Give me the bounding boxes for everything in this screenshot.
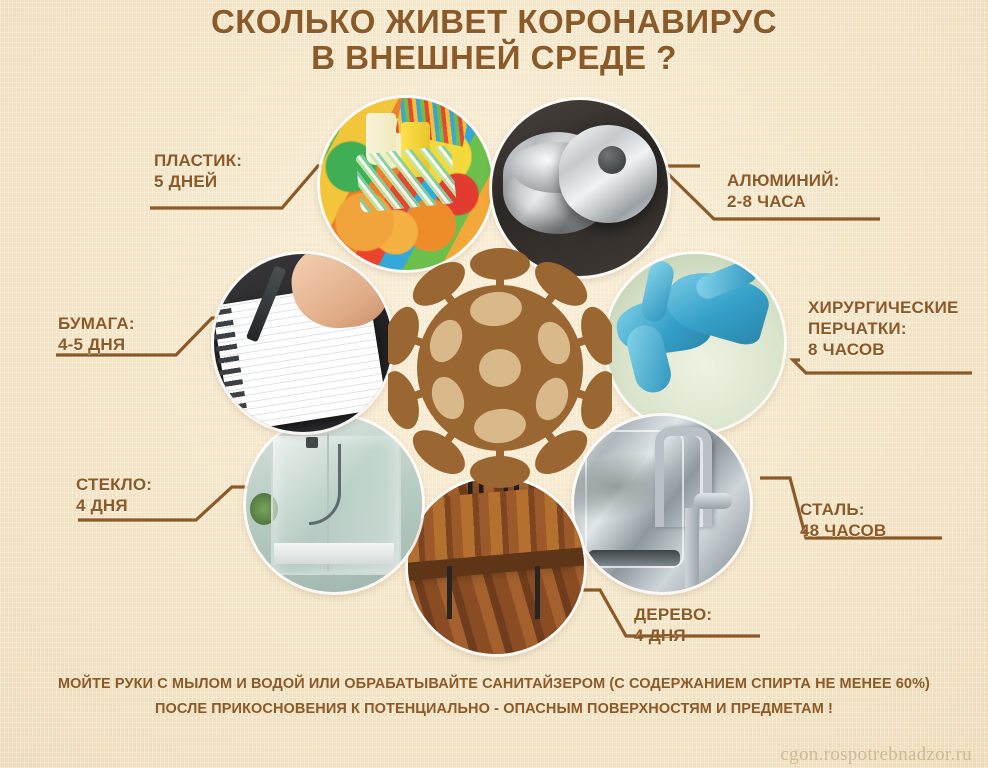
label-paper-material: БУМАГА: [58, 313, 135, 334]
label-plastic-duration: 5 ДНЕЙ [154, 171, 242, 192]
infographic-canvas: СКОЛЬКО ЖИВЕТ КОРОНАВИРУС В ВНЕШНЕЙ СРЕД… [0, 0, 988, 768]
label-wood-material: ДЕРЕВО: [634, 604, 712, 625]
wood-table-leg-2-shape [535, 566, 540, 619]
coronavirus-icon [388, 246, 612, 496]
photo-plastic [320, 98, 492, 270]
label-steel-material: СТАЛЬ: [800, 499, 886, 520]
label-aluminium: АЛЮМИНИЙ: 2-8 ЧАСА [727, 170, 840, 212]
label-paper-duration: 4-5 ДНЯ [58, 334, 135, 355]
label-glass-material: СТЕКЛО: [76, 474, 152, 495]
label-steel: СТАЛЬ: 48 ЧАСОВ [800, 499, 886, 541]
photo-paper [214, 254, 392, 432]
watermark: cgon.rospotrebnadzor.ru [780, 744, 972, 766]
wood-table-leg-1-shape [447, 566, 452, 619]
label-glass: СТЕКЛО: 4 ДНЯ [76, 474, 152, 516]
label-wood-duration: 4 ДНЯ [634, 625, 712, 646]
footer-line-1: МОЙТЕ РУКИ С МЫЛОМ И ВОДОЙ ИЛИ ОБРАБАТЫВ… [0, 672, 988, 697]
label-steel-duration: 48 ЧАСОВ [800, 520, 886, 541]
label-plastic: ПЛАСТИК: 5 ДНЕЙ [154, 150, 242, 192]
photo-wood [408, 478, 584, 654]
label-gloves-duration: 8 ЧАСОВ [808, 339, 959, 360]
label-gloves-material-1: ХИРУРГИЧЕСКИЕ [808, 297, 959, 318]
glass-shower-tray-shape [274, 543, 394, 564]
plastic-straws-shape [355, 145, 457, 213]
label-glass-duration: 4 ДНЯ [76, 495, 152, 516]
label-plastic-material: ПЛАСТИК: [154, 150, 242, 171]
label-paper: БУМАГА: 4-5 ДНЯ [58, 313, 135, 355]
title-line-1: СКОЛЬКО ЖИВЕТ КОРОНАВИРУС [211, 3, 777, 40]
footer-line-2: ПОСЛЕ ПРИКОСНОВЕНИЯ К ПОТЕНЦИАЛЬНО - ОПА… [0, 697, 988, 722]
aluminium-lid-shape [559, 125, 658, 224]
footer-advice: МОЙТЕ РУКИ С МЫЛОМ И ВОДОЙ ИЛИ ОБРАБАТЫВ… [0, 672, 988, 722]
label-aluminium-material: АЛЮМИНИЙ: [727, 170, 840, 191]
steel-basin-shape [588, 550, 680, 566]
aluminium-knob-shape [598, 146, 626, 174]
steel-faucet-shape [655, 427, 712, 528]
label-wood: ДЕРЕВО: 4 ДНЯ [634, 604, 712, 646]
steel-faucet-handle-shape [694, 493, 733, 509]
label-gloves: ХИРУРГИЧЕСКИЕ ПЕРЧАТКИ: 8 ЧАСОВ [808, 297, 959, 360]
title-line-2: В ВНЕШНЕЙ СРЕДЕ ? [0, 40, 988, 76]
steel-faucet-stem-shape [685, 508, 699, 589]
connector-gloves [793, 360, 972, 373]
page-title: СКОЛЬКО ЖИВЕТ КОРОНАВИРУС В ВНЕШНЕЙ СРЕД… [0, 4, 988, 76]
label-gloves-material-2: ПЕРЧАТКИ: [808, 318, 959, 339]
photo-gloves [606, 254, 784, 432]
label-aluminium-duration: 2-8 ЧАСА [727, 191, 840, 212]
